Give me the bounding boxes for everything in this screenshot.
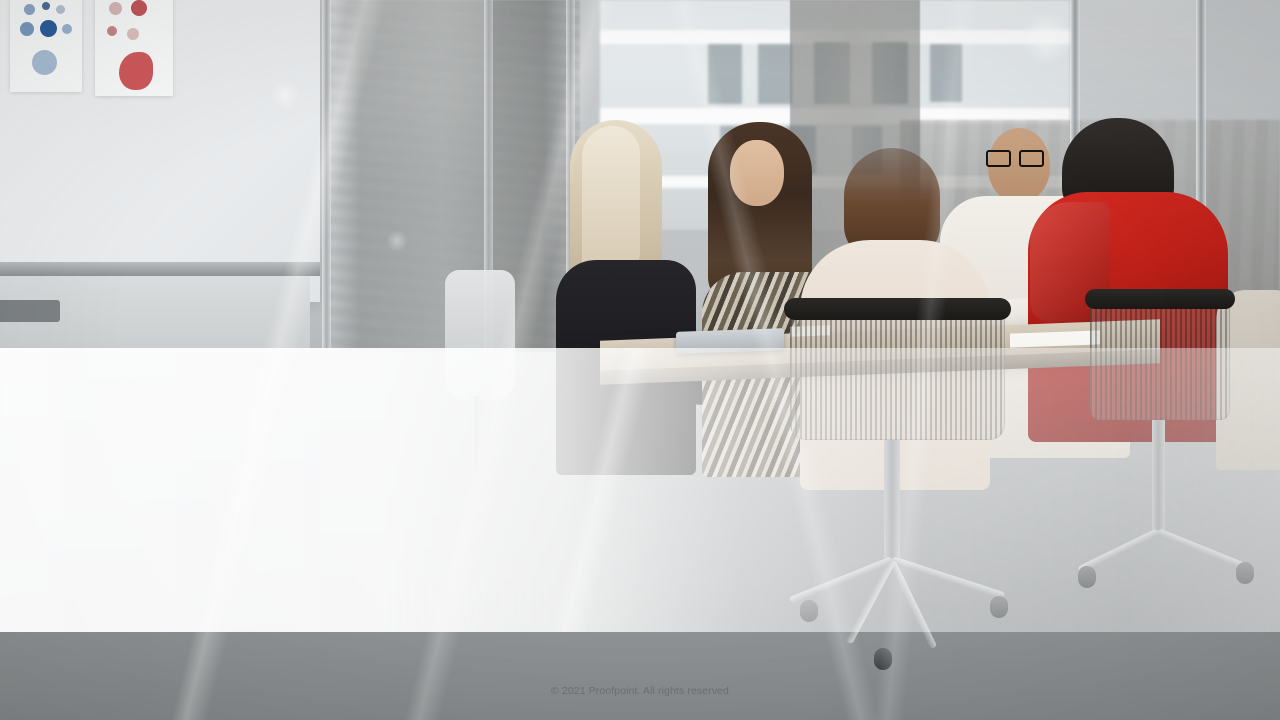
whiteboard-tray	[0, 262, 320, 276]
poster-chart-right	[95, 0, 173, 96]
presentation-slide: proofpoint® Investor Presentation March …	[0, 0, 1280, 720]
title-lockup: proofpoint® Investor Presentation March …	[0, 348, 1280, 632]
copyright-footer: © 2021 Proofpoint. All rights reserved	[0, 684, 1280, 698]
poster-chart-left	[10, 0, 82, 92]
chair-caster	[874, 648, 892, 670]
cabinet-handle	[0, 300, 60, 322]
lens-flare-spot	[270, 80, 300, 110]
glass-mullion-1	[322, 0, 331, 352]
lens-flare-spot	[386, 230, 408, 252]
lens-flare-spot	[1020, 10, 1074, 64]
